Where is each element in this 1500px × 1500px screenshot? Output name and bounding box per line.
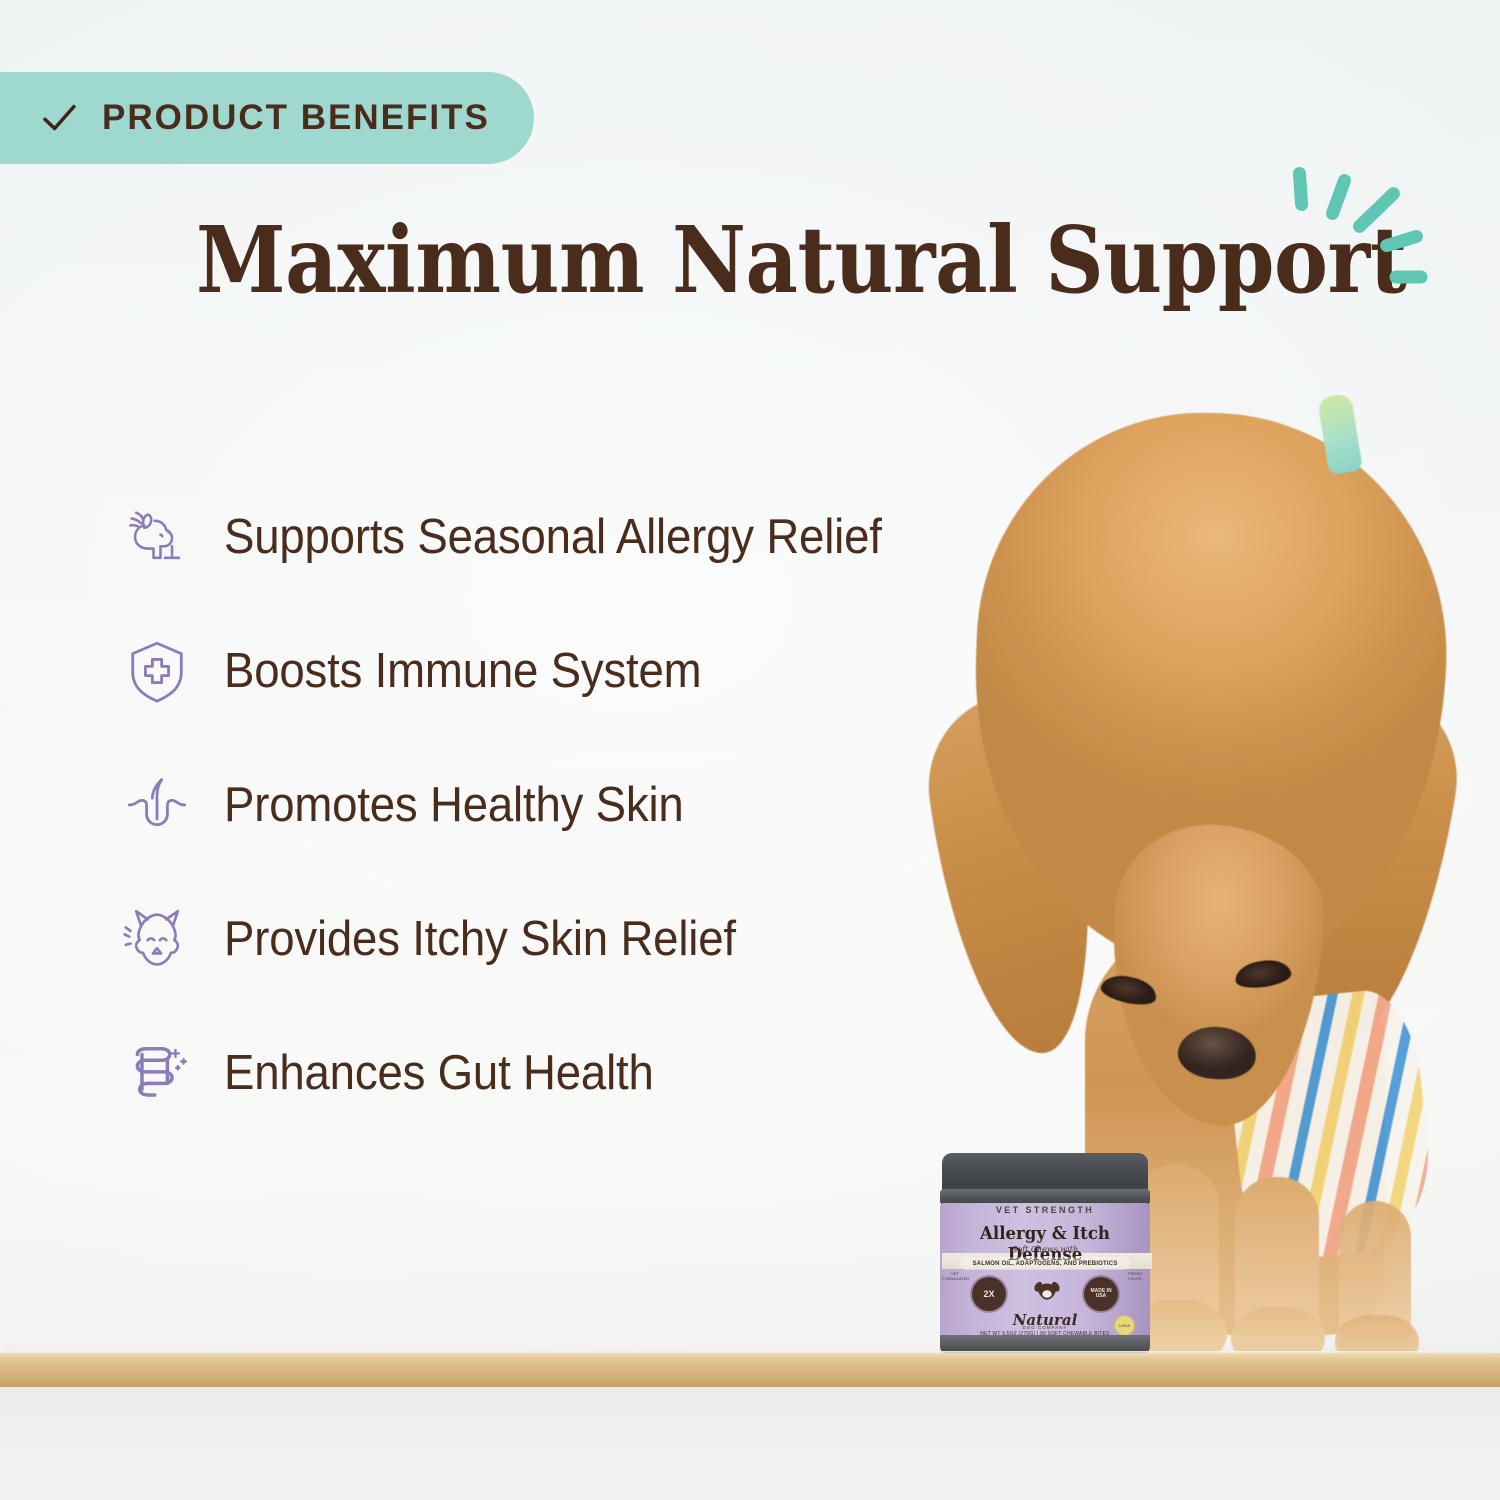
jar-side-badge-right: FRESH FILLED <box>1122 1271 1148 1282</box>
benefit-item-itchy-skin-relief: Provides Itchy Skin Relief <box>118 872 1068 1006</box>
jar-side-left-text-1: VET FORMULATED <box>942 1271 968 1282</box>
sparkle-burst-decoration <box>1262 155 1452 290</box>
sneezing-dog-icon <box>118 498 196 576</box>
hair-follicle-icon <box>118 766 196 844</box>
page-title: Maximum Natural Support <box>196 214 1407 306</box>
benefit-item-gut-health: Enhances Gut Health <box>118 1006 1068 1140</box>
benefit-label-itchy-skin-relief: Provides Itchy Skin Relief <box>224 911 736 967</box>
benefit-label-allergy-relief: Supports Seasonal Allergy Relief <box>224 509 882 565</box>
product-benefits-badge: PRODUCT BENEFITS <box>0 72 534 164</box>
product-jar: VET STRENGTH Allergy & Itch Defense Soft… <box>938 1153 1152 1355</box>
shelf-underside <box>0 1387 1500 1500</box>
benefit-item-healthy-skin: Promotes Healthy Skin <box>118 738 1068 872</box>
dog-face-icon <box>118 900 196 978</box>
jar-seal-2x: 2X <box>972 1277 1006 1311</box>
product-benefits-label: PRODUCT BENEFITS <box>102 98 490 138</box>
jar-seal-made-in-usa: MADE IN USA <box>1084 1277 1118 1311</box>
jar-product-subtitle: Soft Chews with <box>938 1245 1152 1254</box>
benefit-label-immune-system: Boosts Immune System <box>224 643 701 699</box>
jar-vet-strength-text: VET STRENGTH <box>938 1205 1152 1215</box>
wooden-shelf <box>0 1353 1500 1387</box>
burst-ray-3 <box>1350 184 1402 235</box>
benefit-label-healthy-skin: Promotes Healthy Skin <box>224 777 684 833</box>
check-icon <box>38 97 80 139</box>
infographic-canvas: VET STRENGTH Allergy & Itch Defense Soft… <box>0 0 1500 1500</box>
jar-ingredients-banner: SALMON OIL, ADAPTOGENS, AND PREBIOTICS <box>960 1257 1130 1270</box>
burst-ray-4 <box>1379 228 1425 253</box>
jar-side-right-text-1: FRESH FILLED <box>1122 1271 1148 1282</box>
benefit-item-allergy-relief: Supports Seasonal Allergy Relief <box>118 470 1068 604</box>
jar-side-badge-left: VET FORMULATED <box>942 1271 968 1282</box>
benefit-label-gut-health: Enhances Gut Health <box>224 1045 654 1101</box>
shield-cross-icon <box>118 632 196 710</box>
burst-ray-5 <box>1390 271 1428 284</box>
jar-dog-logo-icon <box>1028 1275 1066 1313</box>
jar-usda-seal: USDA <box>1114 1315 1135 1336</box>
benefit-item-immune-system: Boosts Immune System <box>118 604 1068 738</box>
benefits-list: Supports Seasonal Allergy Relief Boosts … <box>118 470 1068 1140</box>
burst-ray-2 <box>1324 172 1353 222</box>
burst-ray-1 <box>1292 167 1308 212</box>
intestine-sparkle-icon <box>118 1034 196 1112</box>
